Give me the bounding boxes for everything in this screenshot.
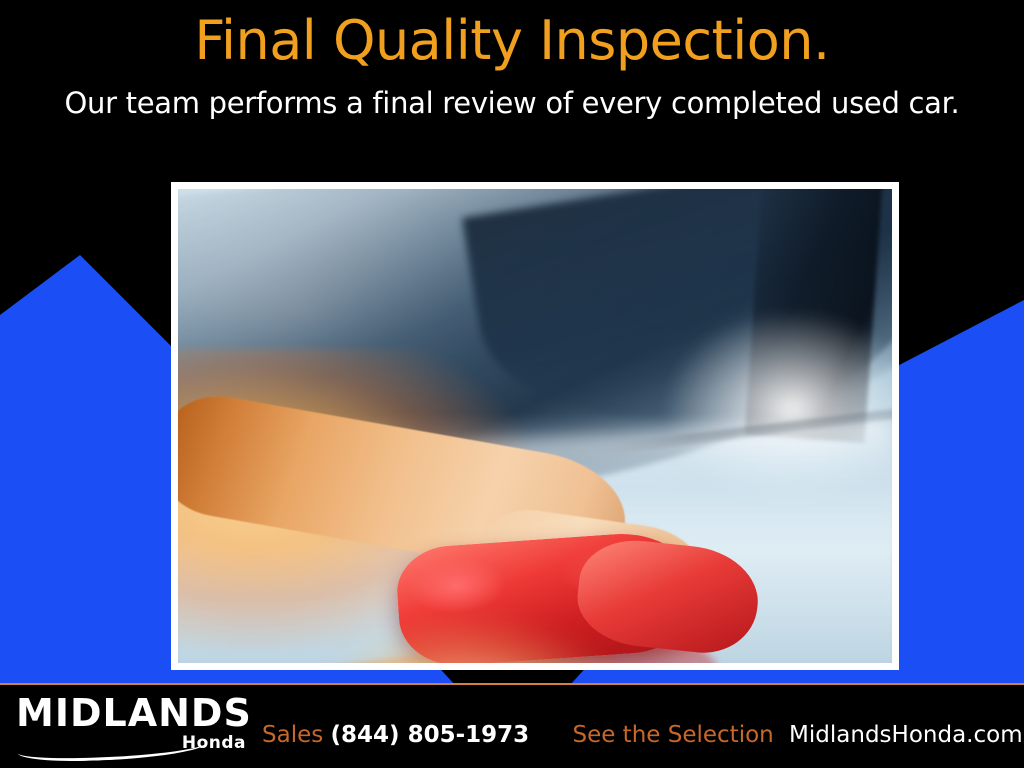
website-url[interactable]: MidlandsHonda.com: [789, 722, 1023, 748]
sales-label: Sales: [262, 722, 323, 748]
logo-brand-label: Honda: [182, 733, 246, 753]
hero-photo: [178, 189, 892, 663]
footer-contact-line: Sales (844) 805-1973 See the Selection M…: [262, 722, 1023, 748]
sales-phone-number[interactable]: (844) 805-1973: [331, 722, 530, 748]
logo-wordmark: MIDLANDS: [16, 693, 252, 733]
advertisement-banner: Final Quality Inspection. Our team perfo…: [0, 0, 1024, 768]
logo-swoosh-icon: [18, 732, 209, 764]
dealer-logo[interactable]: MIDLANDS Honda: [16, 693, 252, 759]
photo-frame: [171, 182, 899, 670]
footer-bar: MIDLANDS Honda Sales (844) 805-1973 See …: [0, 683, 1024, 768]
subheadline: Our team performs a final review of ever…: [0, 86, 1024, 120]
see-selection-label[interactable]: See the Selection: [572, 722, 773, 748]
headline: Final Quality Inspection.: [0, 12, 1024, 70]
photo-lower-glow: [318, 619, 618, 663]
